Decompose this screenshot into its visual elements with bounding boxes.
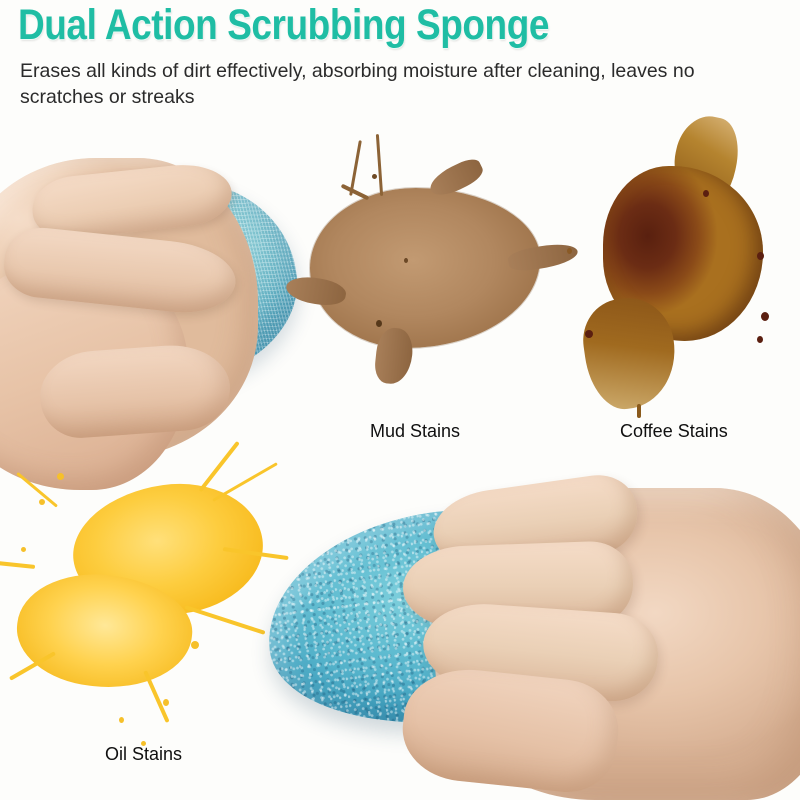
coffee-stain-droplet-2 <box>757 252 764 260</box>
oil-stain-droplet-2 <box>21 547 26 552</box>
page-title: Dual Action Scrubbing Sponge <box>18 2 549 48</box>
oil-stain-droplet-5 <box>119 717 124 723</box>
mud-stain-droplet-3 <box>404 258 408 263</box>
oil-stain-ray-8 <box>143 670 169 723</box>
subtitle-line-1: Erases all kinds of dirt effectively, ab… <box>20 60 695 82</box>
coffee-stain-droplet-3 <box>761 312 769 321</box>
oil-stain-ray-6 <box>0 560 35 569</box>
oil-stain-droplet-6 <box>191 641 199 649</box>
product-infographic: Dual Action Scrubbing Sponge Erases all … <box>0 0 800 800</box>
oil-stain-ray-4 <box>184 605 265 635</box>
caption-oil-stains: Oil Stains <box>105 744 182 765</box>
photo-hand-holding-teal-scrub-pad <box>255 478 800 800</box>
mud-stain-droplet-2 <box>376 320 382 327</box>
caption-coffee-stains: Coffee Stains <box>620 421 728 442</box>
coffee-stain-drip-tail <box>637 404 641 418</box>
coffee-stain-droplet-1 <box>703 190 709 197</box>
coffee-stain-droplet-4 <box>757 336 763 343</box>
mud-stain-droplet-1 <box>372 174 377 179</box>
oil-stain-droplet-3 <box>57 473 64 480</box>
photo-coffee-stain <box>565 108 800 418</box>
subtitle: Erases all kinds of dirt effectively, ab… <box>20 58 780 110</box>
photo-mud-stain <box>280 128 580 418</box>
photo-hand-holding-light-blue-terry-sponge <box>0 140 298 450</box>
oil-stain-droplet-4 <box>163 699 169 706</box>
caption-mud-stains: Mud Stains <box>370 421 460 442</box>
oil-stain-droplet-1 <box>39 499 45 505</box>
mud-stain-core <box>310 188 540 348</box>
mud-stain-spike-3 <box>341 184 370 201</box>
coffee-stain-droplet-5 <box>585 330 593 338</box>
oil-stain-ray-5 <box>16 472 58 508</box>
coffee-stain-droplet-6 <box>567 248 572 254</box>
mud-stain-spike-2 <box>376 134 383 196</box>
subtitle-line-2: scratches or streaks <box>20 86 194 108</box>
